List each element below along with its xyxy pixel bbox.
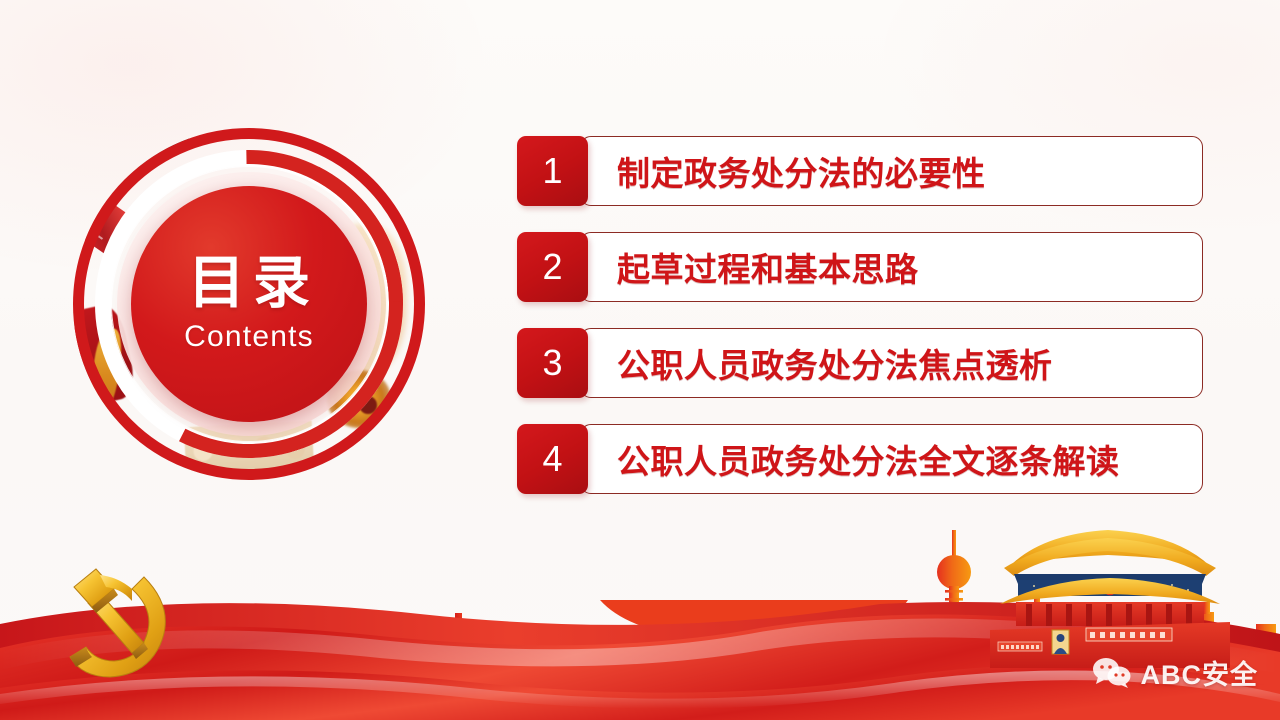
- tiananmen-gate: [990, 518, 1230, 668]
- gate-colonnade: [1016, 602, 1204, 626]
- gate-upper-roof: [1004, 530, 1216, 584]
- item-panel[interactable]: 公职人员政务处分法焦点透析: [580, 328, 1203, 398]
- item-number-badge[interactable]: 2: [517, 232, 588, 302]
- watermark: ABC安全: [1092, 653, 1259, 692]
- toc-disc: 目录 Contents: [131, 186, 367, 422]
- item-panel[interactable]: 制定政务处分法的必要性: [580, 136, 1203, 206]
- gate-banner-left: [998, 642, 1042, 651]
- item-panel[interactable]: 公职人员政务处分法全文逐条解读: [580, 424, 1203, 494]
- toc-title-en: Contents: [184, 320, 314, 354]
- item-label: 起草过程和基本思路: [617, 243, 919, 291]
- portrait-frame: [1052, 630, 1069, 654]
- list-item[interactable]: 3 公职人员政务处分法焦点透析: [517, 328, 1203, 398]
- watermark-text: ABC安全: [1141, 653, 1259, 692]
- item-label: 制定政务处分法的必要性: [617, 147, 986, 195]
- party-emblem: [48, 557, 188, 687]
- list-item[interactable]: 2 起草过程和基本思路: [517, 232, 1203, 302]
- contents-list: 1 制定政务处分法的必要性 2 起草过程和基本思路 3 公职人员政务处分法焦点透…: [517, 136, 1203, 494]
- item-panel[interactable]: 起草过程和基本思路: [580, 232, 1203, 302]
- item-label: 公职人员政务处分法焦点透析: [617, 339, 1053, 387]
- toc-title-cn: 目录: [180, 254, 318, 313]
- slide-canvas: 目录 Contents 1 制定政务处分法的必要性 2 起草过程和基本思路 3 …: [0, 0, 1280, 720]
- gate-banner-right: [1086, 628, 1172, 641]
- item-label: 公职人员政务处分法全文逐条解读: [617, 435, 1120, 483]
- item-number-badge[interactable]: 4: [517, 424, 588, 494]
- bottom-decoration: ABC安全: [0, 485, 1280, 720]
- wechat-icon: [1092, 657, 1132, 689]
- item-number-badge[interactable]: 3: [517, 328, 588, 398]
- list-item[interactable]: 1 制定政务处分法的必要性: [517, 136, 1203, 206]
- item-number-badge[interactable]: 1: [517, 136, 588, 206]
- toc-badge: 目录 Contents: [73, 128, 425, 480]
- list-item[interactable]: 4 公职人员政务处分法全文逐条解读: [517, 424, 1203, 494]
